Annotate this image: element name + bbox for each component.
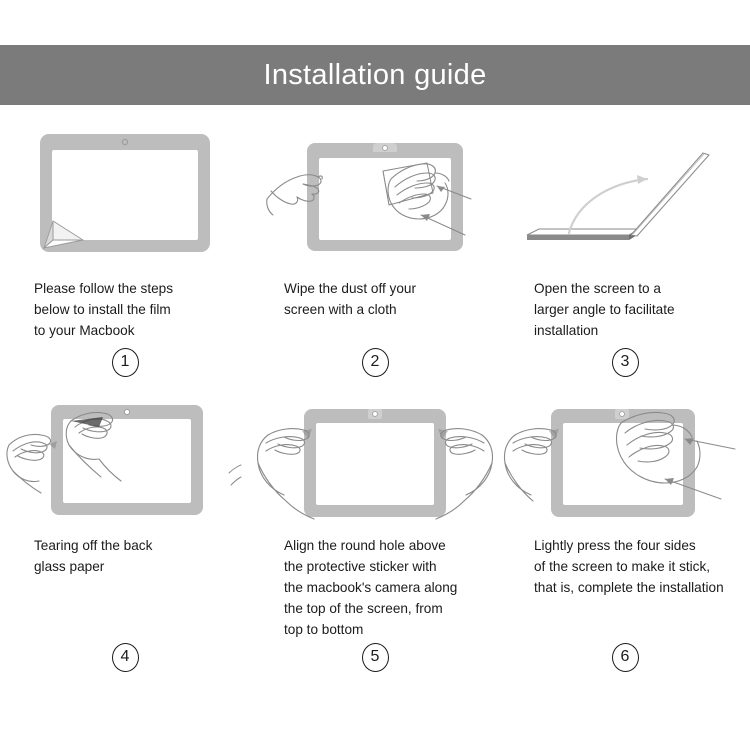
laptop-screen-with-peeling-film-icon [37, 131, 213, 255]
step-card-4: Tearing off the back glass paper 4 [0, 395, 250, 672]
step-caption-5: Align the round hole above the protectiv… [262, 535, 488, 641]
step-number-badge-1: 1 [112, 348, 139, 377]
step-card-1: Please follow the steps below to install… [0, 118, 250, 377]
step-caption-2: Wipe the dust off your screen with a clo… [262, 278, 488, 342]
step-card-3: Open the screen to a larger angle to fac… [500, 118, 750, 377]
hand-pressing-film-edges-icon [509, 397, 741, 523]
step-number-wrap-6: 6 [512, 643, 738, 672]
step-number-wrap-1: 1 [12, 348, 238, 377]
step-illustration-6 [512, 395, 738, 525]
step-caption-6: Lightly press the four sides of the scre… [512, 535, 738, 641]
step-card-2: Wipe the dust off your screen with a clo… [250, 118, 500, 377]
step-number-wrap-2: 2 [262, 348, 488, 377]
step-number-wrap-3: 3 [512, 348, 738, 377]
step-card-5: Align the round hole above the protectiv… [250, 395, 500, 672]
step-illustration-3 [512, 118, 738, 268]
step-card-6: Lightly press the four sides of the scre… [500, 395, 750, 672]
step-caption-4: Tearing off the back glass paper [12, 535, 238, 641]
two-hands-aligning-film-icon [256, 397, 494, 523]
step-number-wrap-5: 5 [262, 643, 488, 672]
step-number-badge-2: 2 [362, 348, 389, 377]
page-title: Installation guide [263, 61, 486, 90]
step-caption-3: Open the screen to a larger angle to fac… [512, 278, 738, 342]
two-hands-peeling-back-paper-icon [9, 397, 241, 523]
installation-guide-page: Installation guide Please follow the ste… [0, 0, 750, 750]
step-number-badge-5: 5 [362, 643, 389, 672]
step-illustration-5 [262, 395, 488, 525]
step-number-badge-3: 3 [612, 348, 639, 377]
step-illustration-4 [12, 395, 238, 525]
step-number-badge-4: 4 [112, 643, 139, 672]
header-banner: Installation guide [0, 45, 750, 105]
hand-wiping-screen-with-cloth-icon [265, 131, 485, 255]
steps-grid: Please follow the steps below to install… [0, 118, 750, 672]
laptop-side-profile-opening-icon [517, 131, 733, 255]
step-number-badge-6: 6 [612, 643, 639, 672]
step-illustration-2 [262, 118, 488, 268]
step-illustration-1 [12, 118, 238, 268]
step-caption-1: Please follow the steps below to install… [12, 278, 238, 342]
step-number-wrap-4: 4 [12, 643, 238, 672]
